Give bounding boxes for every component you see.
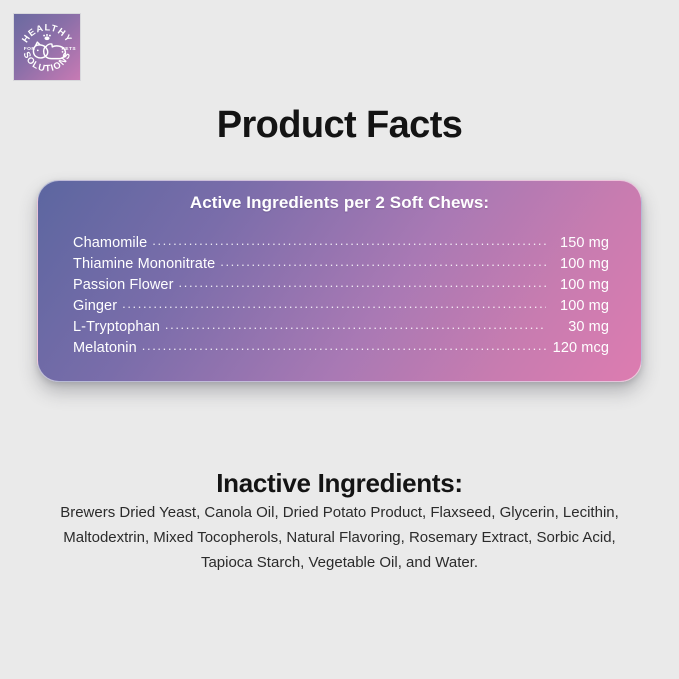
ingredient-row: Thiamine Mononitrate 100 mg — [73, 254, 609, 275]
inactive-line: Brewers Dried Yeast, Canola Oil, Dried P… — [40, 500, 639, 525]
ingredient-row: L-Tryptophan 30 mg — [73, 317, 609, 338]
ingredient-row: Chamomile 150 mg — [73, 233, 609, 254]
inactive-ingredients-heading: Inactive Ingredients: — [0, 468, 679, 499]
ingredient-amount: 100 mg — [549, 298, 609, 314]
inactive-ingredients-text: Brewers Dried Yeast, Canola Oil, Dried P… — [40, 500, 639, 575]
brand-logo: HEALTHY SOLUTIONS FOR PETS — [13, 13, 81, 81]
ingredient-name: Melatonin — [73, 340, 137, 356]
ingredient-amount: 100 mg — [549, 256, 609, 272]
ingredient-name: Ginger — [73, 298, 117, 314]
ingredient-amount: 150 mg — [549, 235, 609, 251]
ingredient-row: Melatonin 120 mcg — [73, 338, 609, 359]
active-ingredients-card: Active Ingredients per 2 Soft Chews: Cha… — [37, 180, 642, 382]
inactive-line: Maltodextrin, Mixed Tocopherols, Natural… — [40, 525, 639, 550]
dot-leader — [122, 296, 546, 310]
ingredient-amount: 30 mg — [549, 319, 609, 335]
gradient-panel: Active Ingredients per 2 Soft Chews: Cha… — [37, 180, 642, 382]
logo-artwork: HEALTHY SOLUTIONS FOR PETS — [14, 14, 80, 80]
page-title: Product Facts — [0, 104, 679, 147]
dot-leader — [220, 254, 546, 268]
ingredient-amount: 120 mcg — [549, 340, 609, 356]
ingredient-amount: 100 mg — [549, 277, 609, 293]
ingredient-row: Ginger 100 mg — [73, 296, 609, 317]
ingredient-name: Chamomile — [73, 235, 147, 251]
ingredient-row: Passion Flower 100 mg — [73, 275, 609, 296]
dot-leader — [152, 233, 546, 247]
paw-print-icon — [43, 34, 51, 40]
ingredient-name: Thiamine Mononitrate — [73, 256, 215, 272]
dot-leader — [165, 317, 546, 331]
ingredient-name: Passion Flower — [73, 277, 174, 293]
inactive-line: Tapioca Starch, Vegetable Oil, and Water… — [40, 550, 639, 575]
ingredient-name: L-Tryptophan — [73, 319, 160, 335]
active-ingredients-heading: Active Ingredients per 2 Soft Chews: — [38, 193, 641, 213]
dot-leader — [179, 275, 546, 289]
logo-top-text: HEALTHY — [20, 22, 74, 44]
dot-leader — [142, 338, 546, 352]
ingredient-list: Chamomile 150 mg Thiamine Mononitrate 10… — [73, 233, 609, 359]
